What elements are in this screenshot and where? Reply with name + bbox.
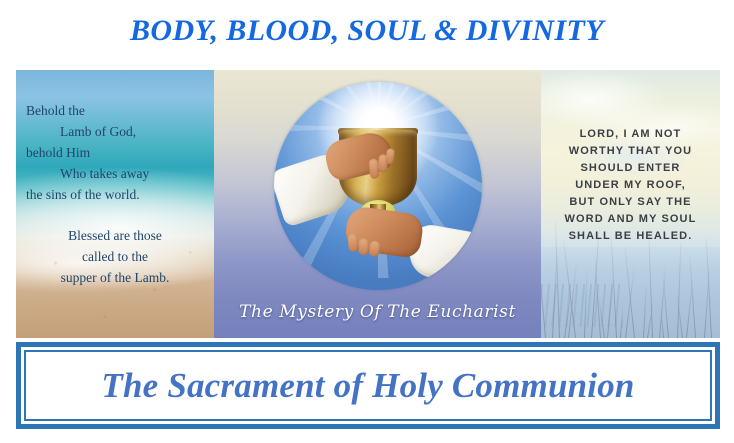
quote-line: SHOULD ENTER bbox=[550, 160, 711, 177]
eucharist-disc bbox=[274, 82, 482, 290]
beach-quote-image: Behold the Lamb of God, behold Him Who t… bbox=[16, 70, 214, 338]
quote-line: the sins of the world. bbox=[26, 184, 204, 205]
lake-quote-text: LORD, I AM NOT WORTHY THAT YOU SHOULD EN… bbox=[541, 126, 720, 245]
quote-line: WORTHY THAT YOU bbox=[550, 143, 711, 160]
finger bbox=[347, 233, 358, 252]
quote-line: supper of the Lamb. bbox=[26, 267, 204, 288]
quote-line: UNDER MY ROOF, bbox=[550, 177, 711, 194]
quote-line: Behold the bbox=[26, 100, 204, 121]
reed bbox=[584, 270, 588, 338]
quote-line: LORD, I AM NOT bbox=[550, 126, 711, 143]
eucharist-chalice-image: The Mystery Of The Eucharist bbox=[214, 70, 541, 338]
reed bbox=[541, 232, 546, 338]
finger bbox=[358, 238, 369, 255]
quote-line: WORD AND MY SOUL bbox=[550, 211, 711, 228]
page-title: BODY, BLOOD, SOUL & DIVINITY bbox=[0, 14, 734, 48]
reed bbox=[643, 284, 647, 338]
quote-line: behold Him bbox=[26, 142, 204, 163]
quote-line: Lamb of God, bbox=[26, 121, 204, 142]
eucharist-caption: The Mystery Of The Eucharist bbox=[214, 302, 541, 322]
slide-canvas: BODY, BLOOD, SOUL & DIVINITY Behold the … bbox=[0, 0, 734, 443]
quote-line: SHALL BE HEALED. bbox=[550, 228, 711, 245]
reed bbox=[620, 306, 624, 338]
finger bbox=[368, 158, 378, 179]
quote-line: Blessed are those bbox=[26, 225, 204, 246]
banner-title: The Sacrament of Holy Communion bbox=[101, 366, 634, 406]
quote-line: called to the bbox=[26, 246, 204, 267]
quote-line: Who takes away bbox=[26, 163, 204, 184]
image-strip: Behold the Lamb of God, behold Him Who t… bbox=[16, 70, 720, 338]
banner-inner-frame: The Sacrament of Holy Communion bbox=[24, 350, 712, 421]
beach-quote-stanza-2: Blessed are those called to the supper o… bbox=[26, 225, 204, 288]
quote-line: BUT ONLY SAY THE bbox=[550, 194, 711, 211]
lake-reeds-quote-image: LORD, I AM NOT WORTHY THAT YOU SHOULD EN… bbox=[541, 70, 720, 338]
beach-quote-text: Behold the Lamb of God, behold Him Who t… bbox=[16, 100, 214, 288]
banner-frame: The Sacrament of Holy Communion bbox=[16, 342, 720, 429]
